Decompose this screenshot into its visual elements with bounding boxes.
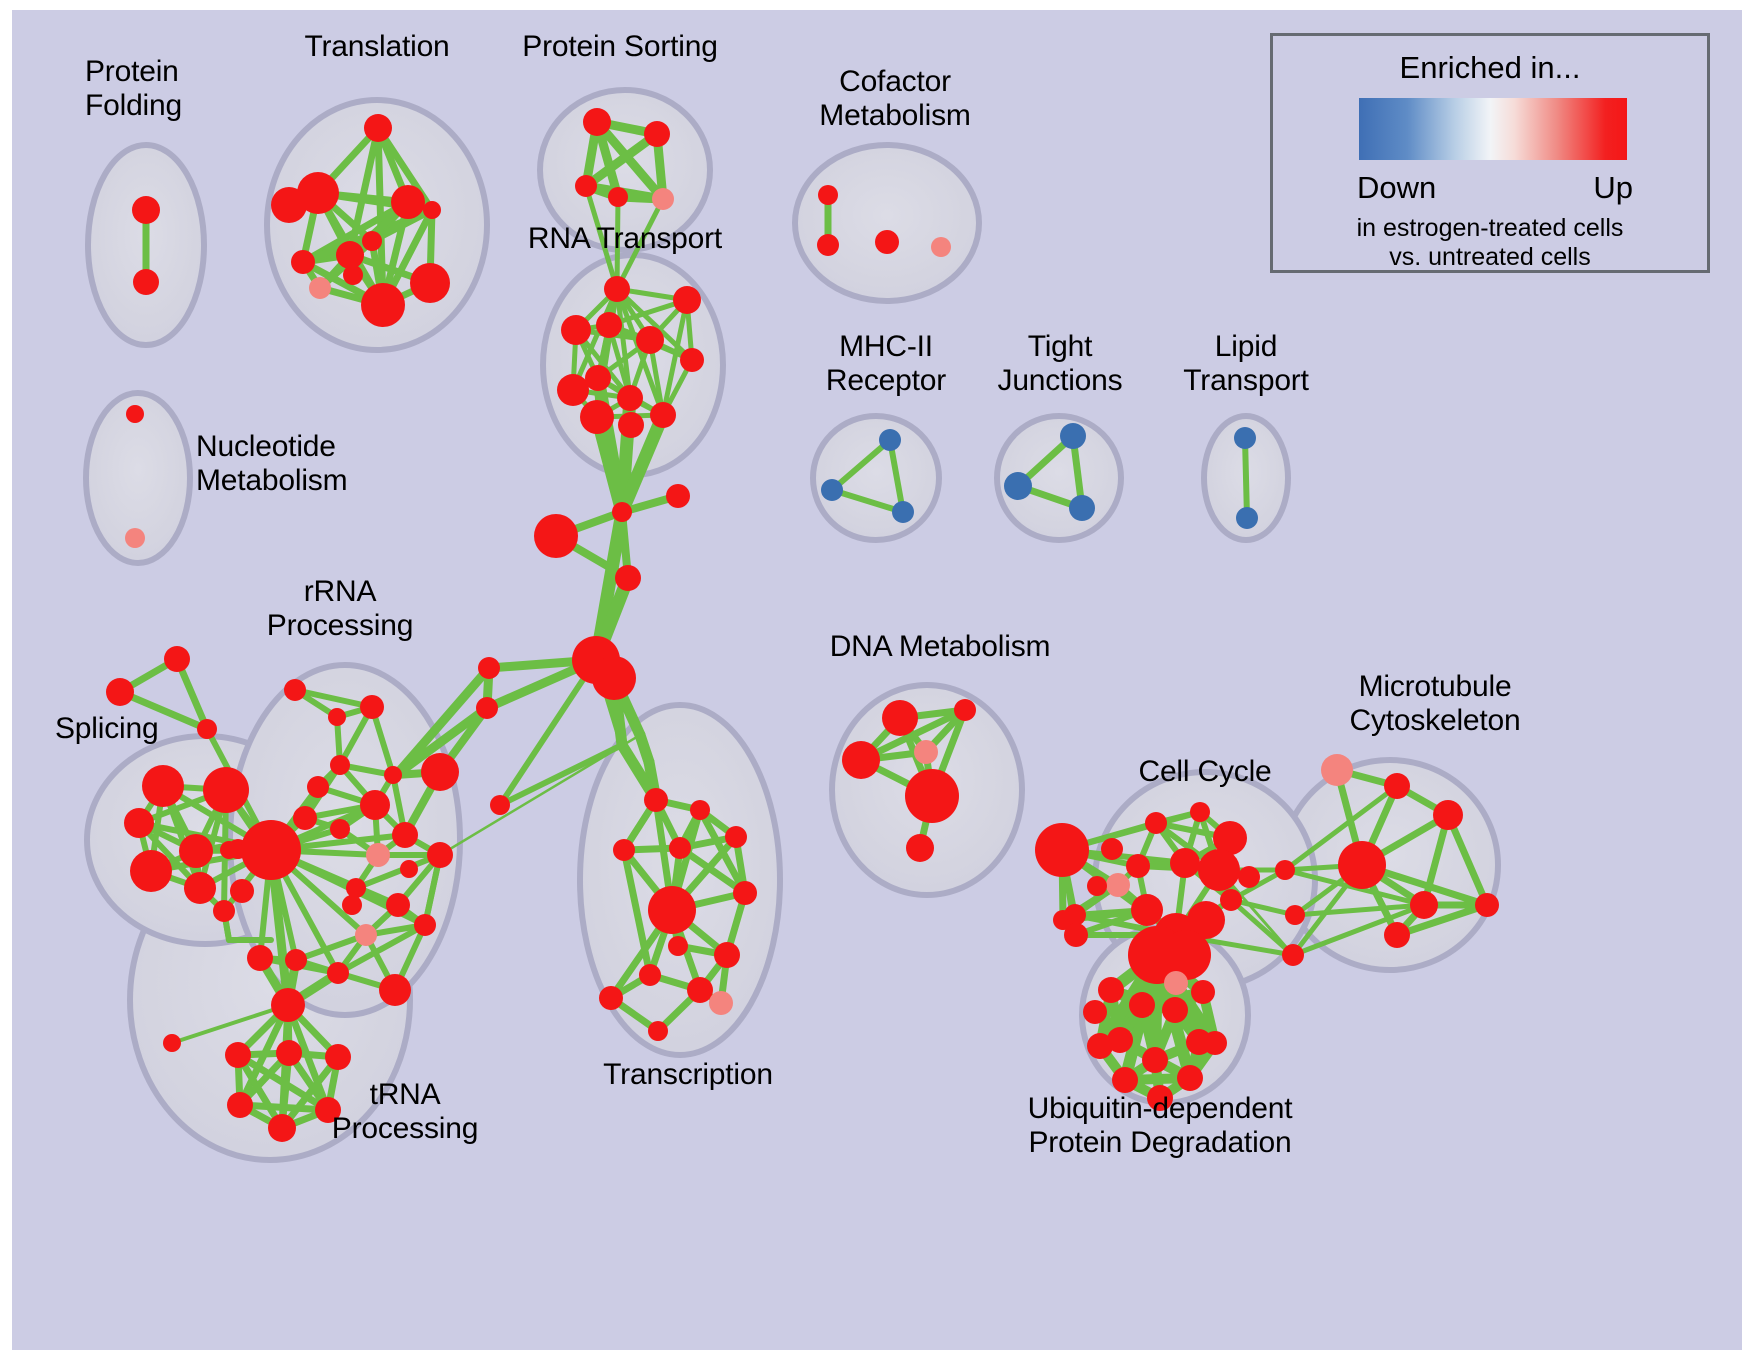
- node: [203, 767, 249, 813]
- legend-down-label: Down: [1357, 170, 1436, 206]
- node: [1035, 823, 1089, 877]
- node: [241, 820, 301, 880]
- node: [327, 962, 349, 984]
- node: [1145, 812, 1167, 834]
- node: [583, 108, 611, 136]
- node: [1131, 894, 1163, 926]
- node: [914, 740, 938, 764]
- node: [1275, 860, 1295, 880]
- figure-canvas: Protein Folding Translation Protein Sort…: [0, 0, 1750, 1360]
- node: [557, 374, 589, 406]
- node: [1384, 773, 1410, 799]
- node: [842, 741, 880, 779]
- node: [1170, 848, 1200, 878]
- node: [818, 185, 838, 205]
- node: [617, 385, 643, 411]
- node: [648, 886, 696, 934]
- node: [599, 986, 623, 1010]
- node: [230, 879, 254, 903]
- node: [163, 1034, 181, 1052]
- node: [125, 528, 145, 548]
- node: [725, 826, 747, 848]
- node: [639, 964, 661, 986]
- cluster-label-mhc-ii-receptor: MHC-II Receptor: [786, 330, 986, 398]
- node: [613, 839, 635, 861]
- node: [1198, 849, 1240, 891]
- node: [1083, 1000, 1107, 1024]
- node: [384, 766, 402, 784]
- node: [307, 776, 329, 798]
- node: [592, 656, 636, 700]
- legend-subtitle-line1: in estrogen-treated cells: [1273, 214, 1707, 243]
- node: [1112, 1067, 1138, 1093]
- color-scale-bar: [1359, 98, 1627, 160]
- cluster-label-nucleotide-metabolism: Nucleotide Metabolism: [196, 430, 436, 498]
- node: [1107, 1027, 1133, 1053]
- node: [615, 565, 641, 591]
- node: [687, 977, 713, 1003]
- node: [227, 1092, 253, 1118]
- node: [905, 769, 959, 823]
- node: [1129, 992, 1155, 1018]
- node: [673, 286, 701, 314]
- node: [325, 1044, 351, 1070]
- node: [618, 412, 644, 438]
- node: [1191, 980, 1215, 1004]
- node: [132, 196, 160, 224]
- node: [892, 501, 914, 523]
- cluster-label-trna-processing: tRNA Processing: [305, 1078, 505, 1146]
- node: [1069, 495, 1095, 521]
- node: [709, 991, 733, 1015]
- hull-cofactor-metabolism: [795, 145, 979, 301]
- node: [336, 241, 364, 269]
- node: [648, 1021, 668, 1041]
- node: [690, 800, 710, 820]
- node: [106, 678, 134, 706]
- legend-box: Enriched in... Down Up in estrogen-treat…: [1270, 33, 1710, 273]
- node: [1164, 971, 1188, 995]
- node: [285, 949, 307, 971]
- node: [561, 315, 591, 345]
- hull-mhc-ii-receptor: [813, 416, 939, 540]
- node: [309, 277, 331, 299]
- node: [133, 269, 159, 295]
- node: [1098, 977, 1124, 1003]
- node: [164, 646, 190, 672]
- node: [330, 755, 350, 775]
- node: [179, 834, 213, 868]
- cluster-label-lipid-transport: Lipid Transport: [1156, 330, 1336, 398]
- node: [1162, 997, 1188, 1023]
- node: [400, 860, 418, 878]
- node: [421, 753, 459, 791]
- node: [1321, 754, 1353, 786]
- cluster-label-protein-folding: Protein Folding: [85, 55, 285, 123]
- node: [954, 699, 976, 721]
- node: [644, 788, 668, 812]
- node: [343, 265, 363, 285]
- cluster-label-tight-junctions: Tight Junctions: [970, 330, 1150, 398]
- node: [293, 806, 317, 830]
- node: [1126, 854, 1150, 878]
- node: [1101, 838, 1123, 860]
- node: [821, 479, 843, 501]
- cluster-label-cell-cycle: Cell Cycle: [1105, 755, 1305, 789]
- node: [733, 881, 757, 905]
- node: [644, 121, 670, 147]
- node: [1142, 1047, 1168, 1073]
- cluster-label-rrna-processing: rRNA Processing: [240, 575, 440, 643]
- node: [276, 1040, 302, 1066]
- node: [652, 188, 674, 210]
- node: [271, 187, 307, 223]
- legend-title: Enriched in...: [1273, 50, 1707, 86]
- node: [604, 276, 630, 302]
- node: [875, 230, 899, 254]
- node: [1060, 423, 1086, 449]
- node: [330, 819, 350, 839]
- node: [225, 1042, 251, 1068]
- node: [575, 175, 597, 197]
- node: [580, 400, 614, 434]
- node: [476, 697, 498, 719]
- node: [427, 842, 453, 868]
- node: [906, 834, 934, 862]
- node: [130, 850, 172, 892]
- node: [410, 263, 450, 303]
- cluster-label-cofactor-metabolism: Cofactor Metabolism: [780, 65, 1010, 133]
- node: [879, 429, 901, 451]
- node: [714, 942, 740, 968]
- node: [124, 808, 154, 838]
- cluster-label-microtubule: Microtubule Cytoskeleton: [1300, 670, 1570, 738]
- node: [291, 250, 315, 274]
- cluster-label-translation: Translation: [257, 30, 497, 64]
- node: [931, 237, 951, 257]
- node: [490, 795, 510, 815]
- node: [1220, 889, 1242, 911]
- node: [360, 790, 390, 820]
- node: [1384, 922, 1410, 948]
- node: [247, 945, 273, 971]
- node: [364, 114, 392, 142]
- cluster-label-transcription: Transcription: [568, 1058, 808, 1092]
- node: [666, 484, 690, 508]
- node: [184, 872, 216, 904]
- node: [392, 822, 418, 848]
- node: [1161, 930, 1211, 980]
- node: [1338, 841, 1386, 889]
- node: [355, 924, 377, 946]
- node: [379, 974, 411, 1006]
- node: [366, 843, 390, 867]
- node: [213, 900, 235, 922]
- cluster-label-dna-metabolism: DNA Metabolism: [815, 630, 1065, 664]
- node: [360, 695, 384, 719]
- node: [386, 893, 410, 917]
- node: [391, 185, 425, 219]
- node: [1106, 873, 1130, 897]
- node: [1064, 923, 1088, 947]
- node: [650, 402, 676, 428]
- node: [328, 708, 346, 726]
- node: [1475, 893, 1499, 917]
- node: [1203, 1031, 1227, 1055]
- node: [1177, 1065, 1203, 1091]
- node: [612, 502, 632, 522]
- cluster-label-ubiquitin: Ubiquitin-dependent Protein Degradation: [990, 1092, 1330, 1160]
- cluster-label-protein-sorting: Protein Sorting: [490, 30, 750, 64]
- node: [142, 765, 184, 807]
- node: [346, 878, 366, 898]
- node: [478, 657, 500, 679]
- node: [268, 1114, 296, 1142]
- node: [817, 234, 839, 256]
- node: [1238, 866, 1260, 888]
- legend-subtitle-line2: vs. untreated cells: [1273, 243, 1707, 272]
- node: [636, 326, 664, 354]
- node: [342, 895, 362, 915]
- node: [126, 405, 144, 423]
- node: [1234, 427, 1256, 449]
- node: [585, 365, 611, 391]
- node: [362, 231, 382, 251]
- node: [1236, 507, 1258, 529]
- node: [534, 514, 578, 558]
- node: [1190, 802, 1210, 822]
- node: [423, 201, 441, 219]
- node: [1282, 944, 1304, 966]
- cluster-label-rna-transport: RNA Transport: [495, 222, 755, 256]
- node: [1410, 891, 1438, 919]
- node: [284, 679, 306, 701]
- node: [271, 988, 305, 1022]
- node: [1285, 905, 1305, 925]
- legend-up-label: Up: [1593, 170, 1633, 206]
- node: [669, 837, 691, 859]
- node: [1087, 876, 1107, 896]
- node: [1004, 472, 1032, 500]
- node: [882, 700, 918, 736]
- node: [1433, 800, 1463, 830]
- node: [596, 312, 622, 338]
- cluster-label-splicing: Splicing: [55, 712, 235, 746]
- node: [668, 936, 688, 956]
- node: [608, 187, 628, 207]
- node: [680, 348, 704, 372]
- node: [414, 914, 436, 936]
- node: [361, 283, 405, 327]
